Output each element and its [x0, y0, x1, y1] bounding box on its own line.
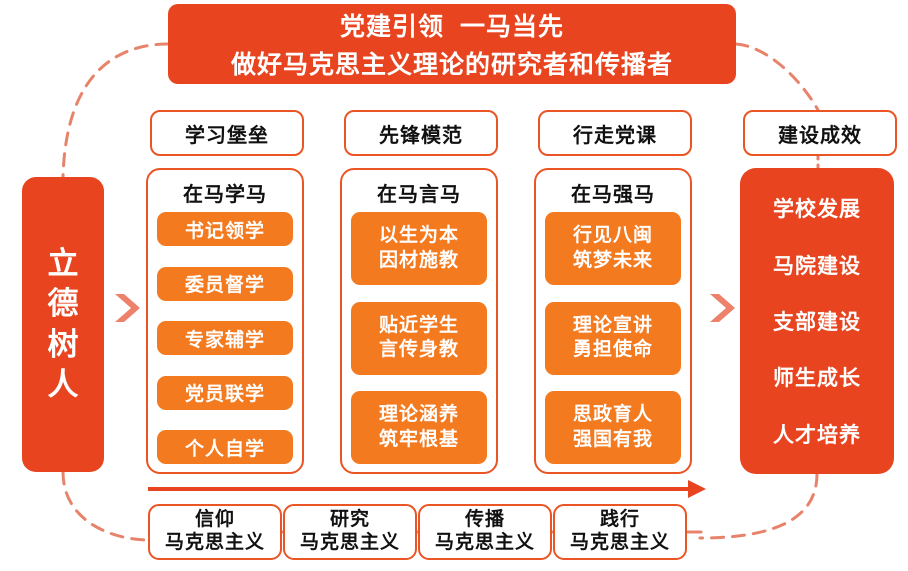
column-header-pioneer-model[interactable]: 先锋模范 — [344, 110, 498, 156]
bottom-item-line-1: 研究 — [330, 509, 370, 532]
pill-item[interactable]: 贴近学生 言传身教 — [351, 302, 487, 375]
pill-item[interactable]: 理论涵养 筑牢根基 — [351, 391, 487, 464]
column-header-label: 建设成效 — [778, 119, 862, 148]
pill-line-1: 委员督学 — [185, 270, 265, 297]
left-vertical-box: 立 德 树 人 — [22, 177, 104, 472]
pill-item[interactable]: 书记领学 — [157, 212, 293, 246]
column-title: 在马学马 — [183, 178, 267, 207]
pill-line-1: 党员联学 — [185, 379, 265, 406]
column-header-construction-results[interactable]: 建设成效 — [743, 110, 897, 156]
pill-stack: 以生为本 因材施教 贴近学生 言传身教 理论涵养 筑牢根基 — [351, 212, 487, 464]
bottom-item-line-1: 践行 — [600, 509, 640, 532]
pill-line-2: 言传身教 — [379, 338, 459, 362]
pill-line-1: 专家辅学 — [185, 325, 265, 352]
pill-line-2: 勇担使命 — [573, 338, 653, 362]
dashed-connector-banner-to-left — [63, 44, 168, 177]
pill-line-1: 书记领学 — [185, 216, 265, 243]
pill-item[interactable]: 个人自学 — [157, 430, 293, 464]
bottom-item-belief[interactable]: 信仰 马克思主义 — [148, 504, 282, 560]
bottom-item-line-2: 马克思主义 — [435, 532, 535, 555]
result-item: 马院建设 — [773, 250, 861, 280]
pill-line-1: 理论宣讲 — [573, 314, 653, 338]
left-box-char: 人 — [48, 365, 79, 405]
pill-item[interactable]: 思政育人 强国有我 — [545, 391, 681, 464]
pill-line-1: 贴近学生 — [379, 314, 459, 338]
column-header-label: 行走党课 — [573, 119, 657, 148]
pill-stack: 书记领学 委员督学 专家辅学 党员联学 个人自学 — [157, 212, 293, 464]
result-item: 支部建设 — [773, 306, 861, 336]
pill-line-2: 筑梦未来 — [573, 249, 653, 273]
column-header-label: 先锋模范 — [379, 119, 463, 148]
bottom-item-line-1: 传播 — [465, 509, 505, 532]
pill-stack: 行见八闽 筑梦未来 理论宣讲 勇担使命 思政育人 强国有我 — [545, 212, 681, 464]
result-item: 人才培养 — [773, 419, 861, 449]
bottom-item-practice[interactable]: 践行 马克思主义 — [553, 504, 687, 560]
chevron-right-icon — [112, 291, 142, 325]
pill-line-1: 以生为本 — [379, 224, 459, 248]
column-header-walking-party-lesson[interactable]: 行走党课 — [538, 110, 692, 156]
column-body-pioneer-model: 在马言马 以生为本 因材施教 贴近学生 言传身教 理论涵养 筑牢根基 — [340, 168, 498, 474]
banner-line-1: 党建引领 一马当先 — [340, 7, 564, 43]
column-body-walking-party-lesson: 在马强马 行见八闽 筑梦未来 理论宣讲 勇担使命 思政育人 强国有我 — [534, 168, 692, 474]
pill-item[interactable]: 专家辅学 — [157, 321, 293, 355]
pill-line-2: 筑牢根基 — [379, 428, 459, 452]
bottom-item-line-2: 马克思主义 — [300, 532, 400, 555]
pill-line-1: 个人自学 — [185, 434, 265, 461]
column-title: 在马强马 — [571, 178, 655, 207]
pill-line-2: 强国有我 — [573, 428, 653, 452]
chevron-right-icon — [707, 291, 737, 325]
column-title: 在马言马 — [377, 178, 461, 207]
bottom-item-research[interactable]: 研究 马克思主义 — [283, 504, 417, 560]
column-header-label: 学习堡垒 — [185, 119, 269, 148]
column-header-learning-fortress[interactable]: 学习堡垒 — [150, 110, 304, 156]
left-box-char: 树 — [48, 325, 79, 365]
pill-item[interactable]: 行见八闽 筑梦未来 — [545, 212, 681, 285]
pill-line-2: 因材施教 — [379, 249, 459, 273]
dashed-connector-left-to-bottom — [63, 472, 150, 540]
result-item: 学校发展 — [773, 193, 861, 223]
banner-line-2: 做好马克思主义理论的研究者和传播者 — [231, 45, 673, 81]
results-panel: 学校发展 马院建设 支部建设 师生成长 人才培养 — [740, 168, 894, 474]
pill-item[interactable]: 委员督学 — [157, 267, 293, 301]
pill-line-1: 理论涵养 — [379, 403, 459, 427]
bottom-item-line-1: 信仰 — [195, 509, 235, 532]
left-box-char: 德 — [48, 284, 79, 324]
column-body-learning-fortress: 在马学马 书记领学 委员督学 专家辅学 党员联学 个人自学 — [146, 168, 304, 474]
pill-item[interactable]: 党员联学 — [157, 376, 293, 410]
diagram-canvas: 党建引领 一马当先 做好马克思主义理论的研究者和传播者 立 德 树 人 学习堡垒… — [0, 0, 908, 571]
title-banner: 党建引领 一马当先 做好马克思主义理论的研究者和传播者 — [168, 4, 736, 84]
bottom-item-dissemination[interactable]: 传播 马克思主义 — [418, 504, 552, 560]
result-item: 师生成长 — [773, 362, 861, 392]
flow-arrow-icon — [148, 480, 706, 498]
bottom-item-line-2: 马克思主义 — [165, 532, 265, 555]
pill-item[interactable]: 以生为本 因材施教 — [351, 212, 487, 285]
dashed-connector-results-to-bottom — [700, 474, 817, 538]
left-box-char: 立 — [48, 244, 79, 284]
dashed-connector-banner-to-results — [736, 44, 818, 110]
bottom-item-line-2: 马克思主义 — [570, 532, 670, 555]
pill-line-1: 行见八闽 — [573, 224, 653, 248]
pill-line-1: 思政育人 — [573, 403, 653, 427]
pill-item[interactable]: 理论宣讲 勇担使命 — [545, 302, 681, 375]
